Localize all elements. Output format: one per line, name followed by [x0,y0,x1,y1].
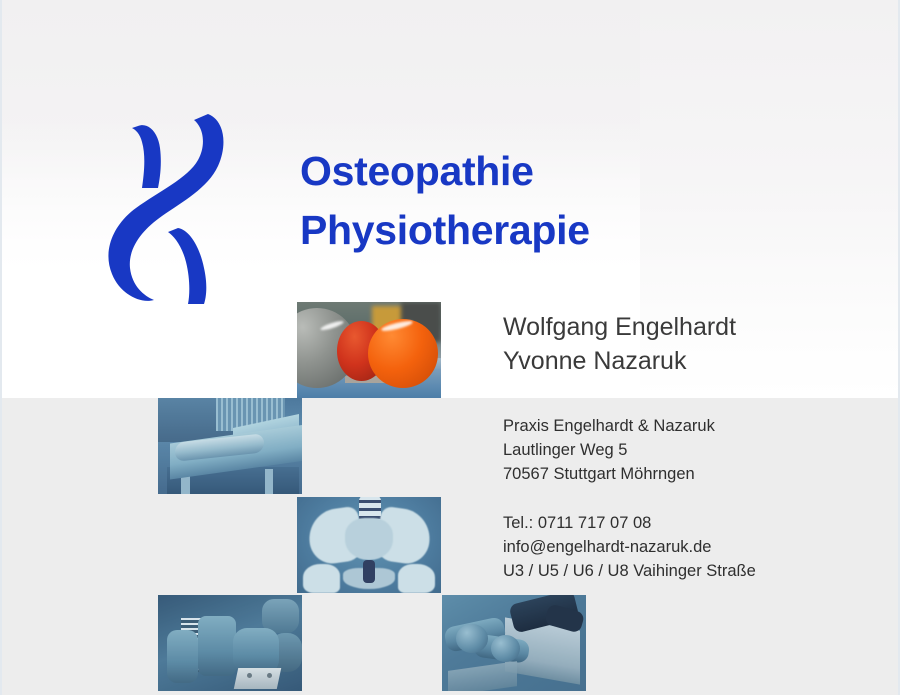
practice-name: Praxis Engelhardt & Nazaruk [503,414,756,438]
page-title-line-1: Osteopathie [300,142,590,201]
photo-tile-pelvis-model [297,497,441,593]
business-card-page: Osteopathie Physiotherapie Wolfgang Enge… [0,0,900,695]
practitioner-name-1: Wolfgang Engelhardt [503,310,736,344]
brand-logo-icon [96,104,240,308]
contact-block: Praxis Engelhardt & Nazaruk Lautlinger W… [503,414,756,583]
address-block: Praxis Engelhardt & Nazaruk Lautlinger W… [503,414,756,486]
gym-equipment-image [158,595,302,691]
exercise-balls-image [297,302,441,398]
practitioner-name-2: Yvonne Nazaruk [503,344,736,378]
photo-tile-dumbbells [442,595,586,691]
practitioner-names: Wolfgang Engelhardt Yvonne Nazaruk [503,310,736,378]
page-title-line-2: Physiotherapie [300,201,590,260]
email-address[interactable]: info@engelhardt-nazaruk.de [503,535,756,559]
page-edge-left [0,0,2,695]
treatment-table-image [158,398,302,494]
photo-tile-gym-equipment [158,595,302,691]
dumbbells-image [442,595,586,691]
pelvis-model-image [297,497,441,593]
city-address: 70567 Stuttgart Möhrngen [503,462,756,486]
transit-info: U3 / U5 / U6 / U8 Vaihinger Straße [503,559,756,583]
photo-tile-exercise-balls [297,302,441,398]
phone-email-block: Tel.: 0711 717 07 08 info@engelhardt-naz… [503,511,756,583]
street-address: Lautlinger Weg 5 [503,438,756,462]
photo-tile-treatment-table [158,398,302,494]
page-title: Osteopathie Physiotherapie [300,142,590,261]
phone-number[interactable]: Tel.: 0711 717 07 08 [503,511,756,535]
